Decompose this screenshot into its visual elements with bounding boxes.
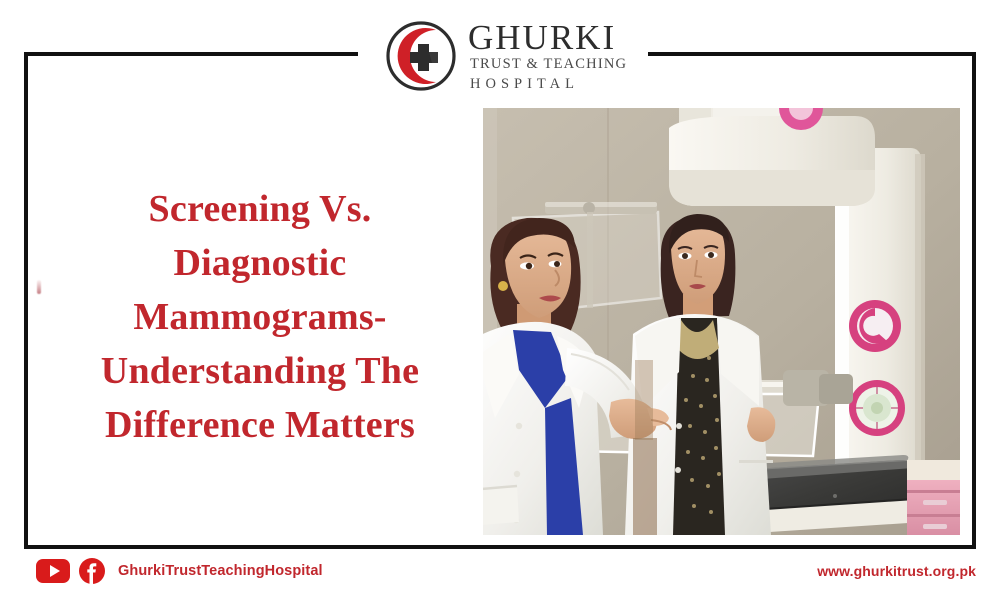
brand-tagline-line2: HOSPITAL: [468, 75, 627, 94]
hospital-logo-block: GHURKI TRUST & TEACHING HOSPITAL: [382, 10, 628, 102]
headline-line-3: Mammograms-: [60, 291, 460, 345]
social-links: GhurkiTrustTeachingHospital: [36, 558, 323, 584]
social-handle-label[interactable]: GhurkiTrustTeachingHospital: [118, 563, 323, 579]
headline-line-2: Diagnostic: [60, 237, 460, 291]
frame-rule-left: [24, 52, 124, 56]
ghurki-logo-icon: [382, 17, 460, 95]
headline-line-5: Difference Matters: [60, 399, 460, 453]
article-photo: [483, 108, 960, 535]
footer-bar: GhurkiTrustTeachingHospital www.ghurkitr…: [0, 558, 1000, 600]
headline-line-4: Understanding The: [60, 345, 460, 399]
stray-ink-mark: [37, 280, 41, 294]
play-triangle-icon: [50, 565, 60, 577]
hospital-wordmark: GHURKI TRUST & TEACHING HOSPITAL: [468, 18, 627, 93]
brand-tagline-line1: TRUST & TEACHING: [468, 55, 627, 75]
website-url[interactable]: www.ghurkitrust.org.pk: [817, 563, 976, 579]
brand-name: GHURKI: [468, 20, 627, 55]
youtube-icon[interactable]: [36, 559, 70, 583]
frame-rule-right: [878, 52, 976, 56]
headline-line-1: Screening Vs.: [60, 183, 460, 237]
facebook-icon[interactable]: [79, 558, 105, 584]
page-title: Screening Vs. Diagnostic Mammograms- Und…: [60, 183, 460, 453]
